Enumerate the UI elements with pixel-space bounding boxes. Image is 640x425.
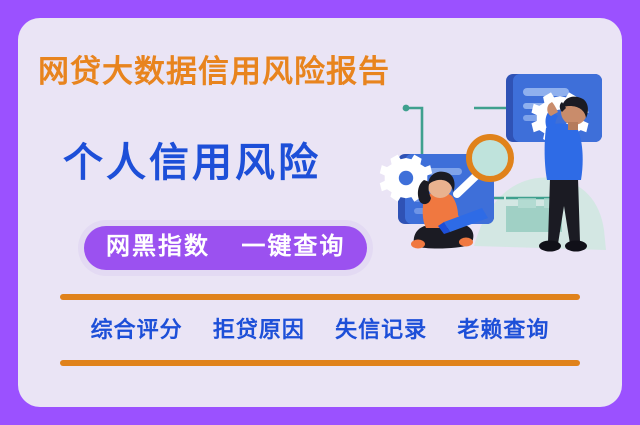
connector-dots [403,105,410,112]
cta-label-index: 网黑指数 [106,233,210,260]
query-cta-button[interactable]: 网黑指数 一键查询 [84,226,367,270]
illustration-data-analysis [378,46,618,286]
feature-item-reject-reason[interactable]: 拒贷原因 [213,317,305,342]
feature-item-score[interactable]: 综合评分 [91,317,183,342]
feature-item-dishonest-record[interactable]: 失信记录 [335,317,427,342]
cta-label-query: 一键查询 [241,233,345,260]
divider-bottom [60,360,580,366]
poster-root: 网贷大数据信用风险报告 个人信用风险 网黑指数 一键查询 综合评分 拒贷原因 失… [0,0,640,425]
feature-list: 综合评分 拒贷原因 失信记录 老赖查询 [60,312,580,344]
divider-top [60,294,580,300]
feature-item-defaulter-query[interactable]: 老赖查询 [457,317,549,342]
cta-button-ring: 网黑指数 一键查询 [78,220,373,276]
poster-card: 网贷大数据信用风险报告 个人信用风险 网黑指数 一键查询 综合评分 拒贷原因 失… [18,18,622,407]
